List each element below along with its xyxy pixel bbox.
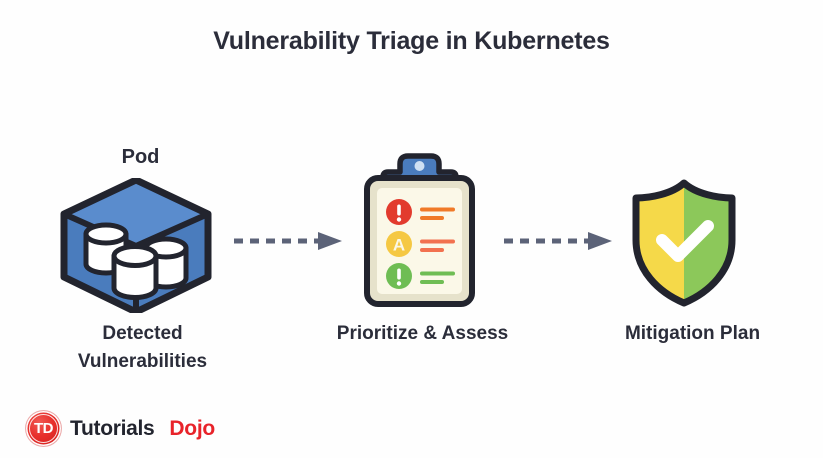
badge-initials: TD bbox=[34, 421, 53, 436]
caption-detected-line1: Detected bbox=[20, 320, 265, 348]
tutorials-dojo-logo[interactable]: TD Tutorials Dojo bbox=[26, 411, 215, 446]
stage-mitigation bbox=[628, 178, 740, 308]
arrow-prioritize-to-mitigation bbox=[502, 230, 614, 252]
stage-pod: Pod bbox=[48, 140, 233, 320]
clipboard-checklist-icon: A bbox=[352, 150, 487, 315]
caption-mitigation-plan: Mitigation Plan bbox=[570, 320, 815, 348]
caption-prioritize-line1: Prioritize & Assess bbox=[300, 320, 545, 348]
svg-text:A: A bbox=[393, 236, 405, 255]
arrow-pod-to-prioritize bbox=[232, 230, 344, 252]
diagram-canvas: Vulnerability Triage in Kubernetes Pod bbox=[0, 0, 823, 458]
logo-word-tutorials: Tutorials bbox=[70, 417, 154, 441]
stage-prioritize: A bbox=[352, 150, 487, 310]
flow-diagram: Pod bbox=[0, 140, 823, 320]
logo-word-dojo: Dojo bbox=[169, 417, 214, 441]
caption-mitigation-line1: Mitigation Plan bbox=[570, 320, 815, 348]
page-title: Vulnerability Triage in Kubernetes bbox=[0, 27, 823, 56]
pod-top-label: Pod bbox=[48, 146, 233, 169]
shield-check-icon bbox=[628, 178, 740, 313]
kubernetes-pod-cube-icon bbox=[56, 178, 216, 318]
caption-prioritize-assess: Prioritize & Assess bbox=[300, 320, 545, 348]
caption-detected-vulnerabilities: Detected Vulnerabilities bbox=[20, 320, 265, 375]
caption-detected-line2: Vulnerabilities bbox=[20, 348, 265, 376]
tutorials-dojo-badge-icon: TD bbox=[26, 411, 61, 446]
